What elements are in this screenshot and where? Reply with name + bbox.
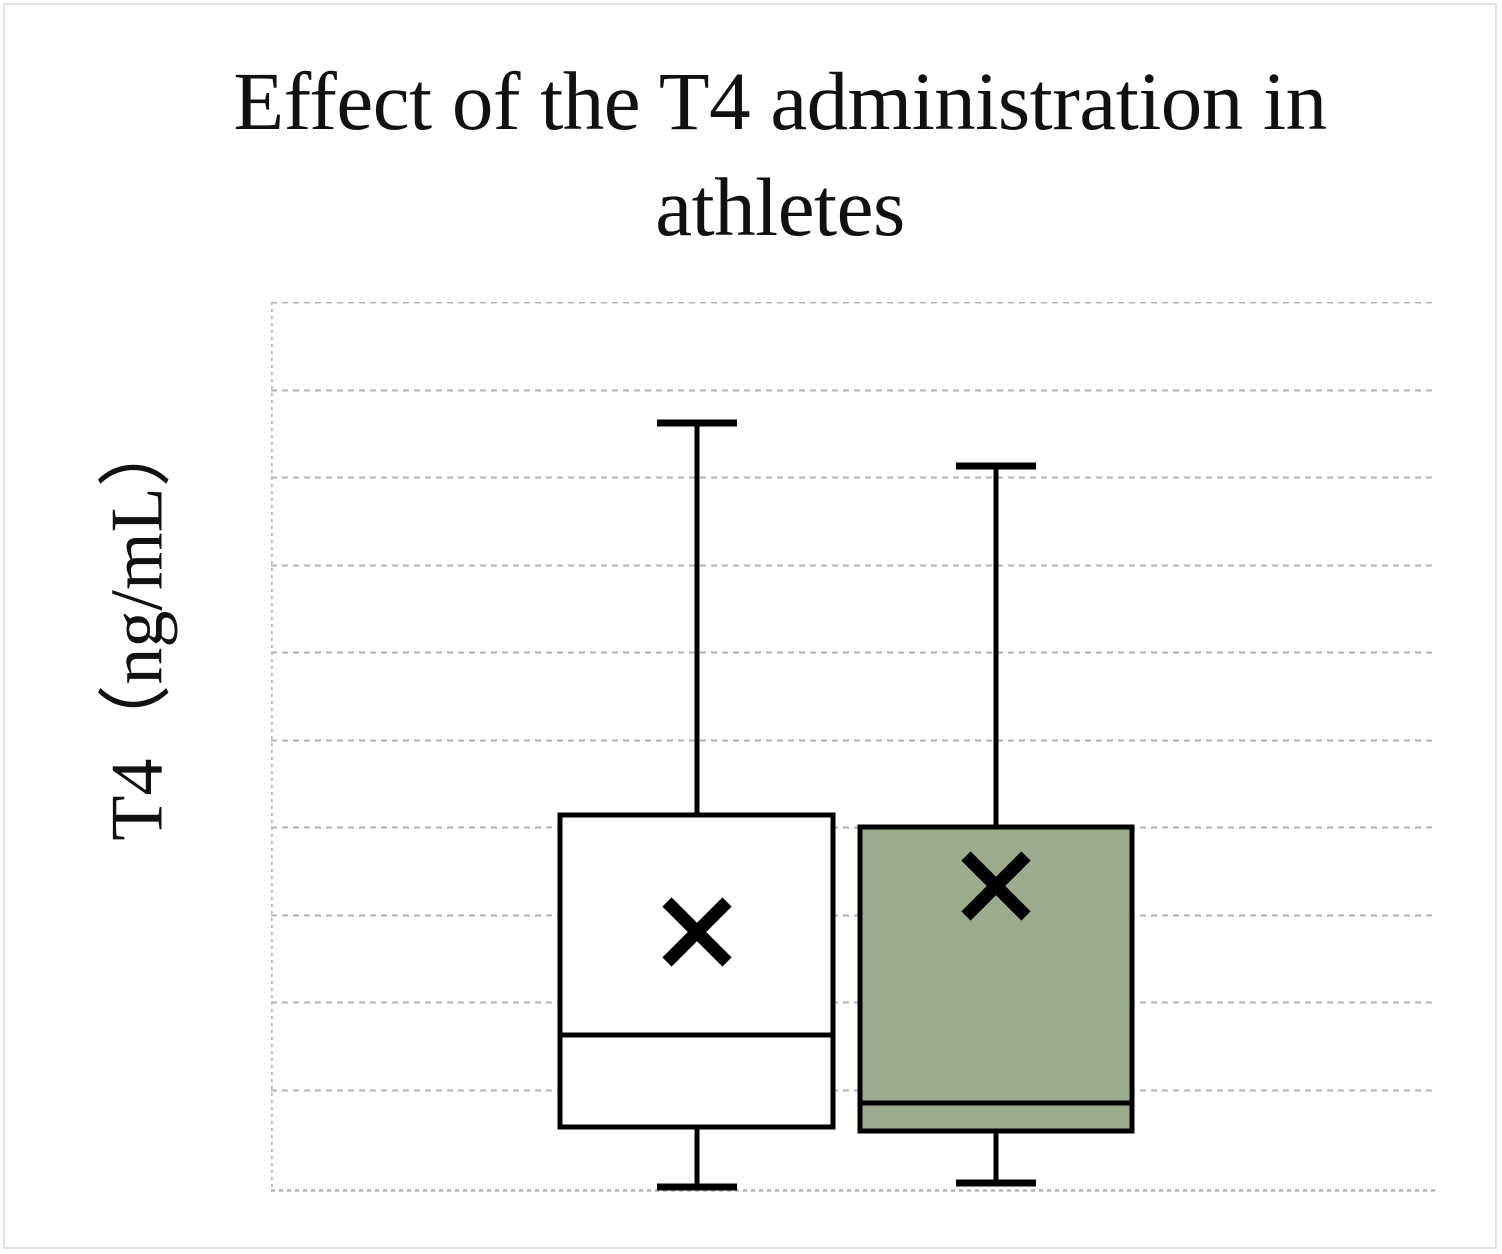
chart-title: Effect of the T4 administration in athle… [120, 48, 1440, 260]
plot-area [271, 302, 1437, 1190]
chart-title-line-2: athletes [655, 161, 905, 253]
gridlines [271, 303, 1437, 1191]
box-body [860, 827, 1132, 1131]
chart-title-line-1: Effect of the T4 administration in [233, 55, 1326, 147]
box-series [560, 423, 1132, 1187]
boxplot-series-2 [860, 466, 1132, 1183]
boxplot-svg [271, 302, 1437, 1194]
box-body [560, 815, 833, 1127]
boxplot-series-1 [560, 423, 833, 1187]
y-axis-title-label: T4（ng/mL） [77, 413, 184, 841]
chart-container: Effect of the T4 administration in athle… [0, 0, 1502, 1254]
